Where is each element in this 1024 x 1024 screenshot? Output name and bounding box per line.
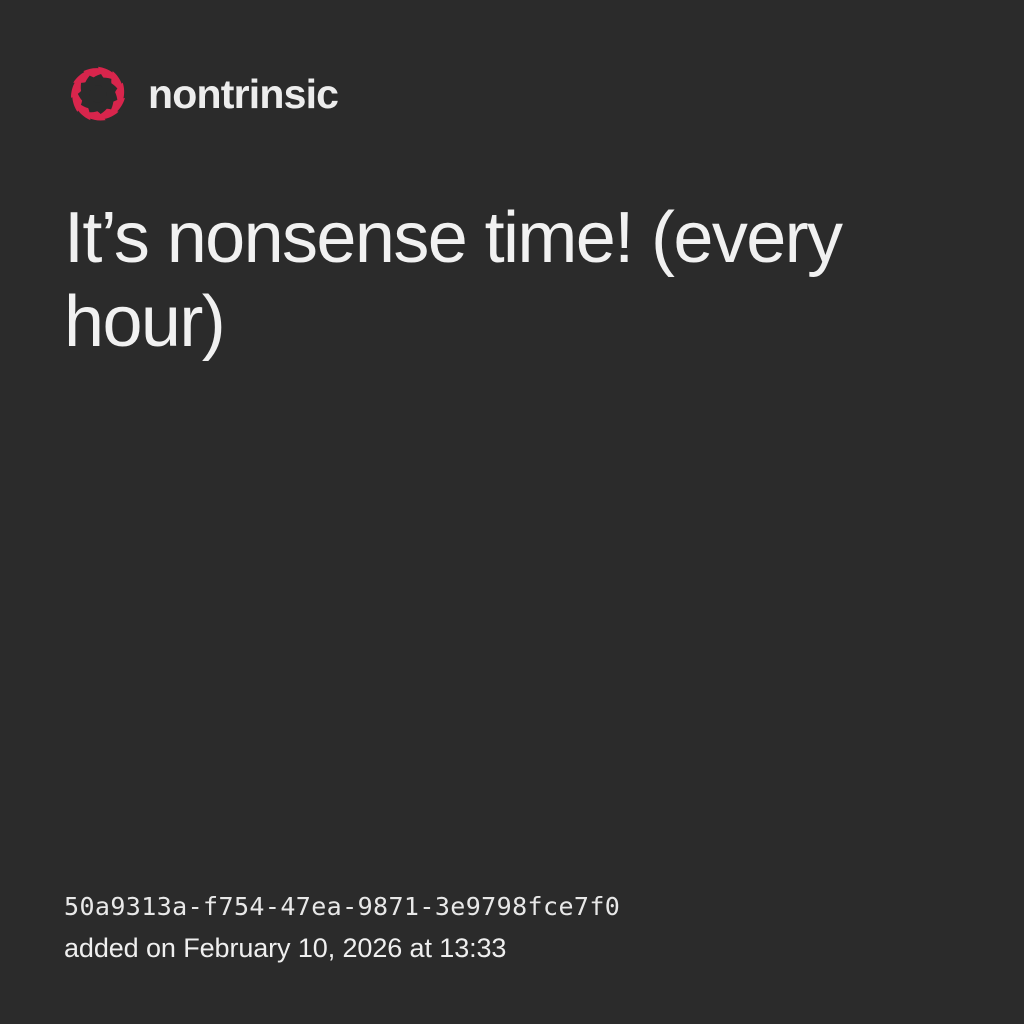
post-added-timestamp: added on February 10, 2026 at 13:33 xyxy=(64,930,964,966)
page-title: It’s nonsense time! (every hour) xyxy=(64,196,944,364)
post-uuid: 50a9313a-f754-47ea-9871-3e9798fce7f0 xyxy=(64,890,964,924)
pinwheel-swirl-icon xyxy=(64,60,132,128)
brand-wordmark: nontrinsic xyxy=(148,74,338,115)
post-metadata: 50a9313a-f754-47ea-9871-3e9798fce7f0 add… xyxy=(64,890,964,966)
brand-header[interactable]: nontrinsic xyxy=(64,58,338,130)
post-card: nontrinsic It’s nonsense time! (every ho… xyxy=(0,0,1024,1024)
